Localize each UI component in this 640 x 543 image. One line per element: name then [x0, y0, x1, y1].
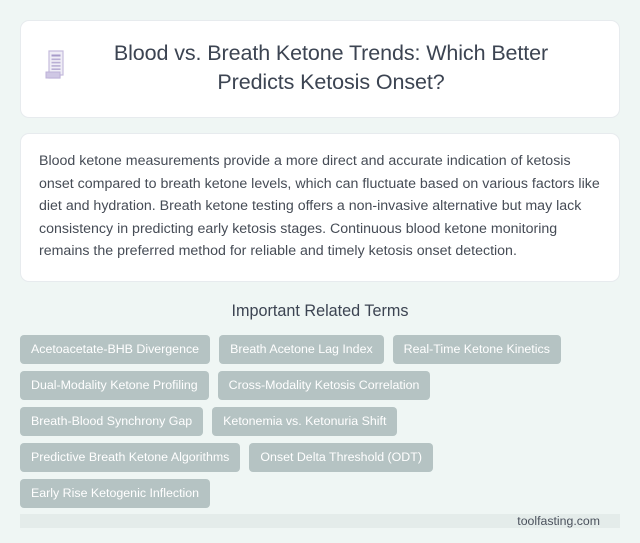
- footer-bar: toolfasting.com: [20, 514, 620, 528]
- page-title: Blood vs. Breath Ketone Trends: Which Be…: [81, 39, 595, 97]
- receipt-document-icon: [45, 50, 67, 80]
- related-terms-list: Acetoacetate-BHB Divergence Breath Aceto…: [20, 335, 620, 508]
- tag-item[interactable]: Cross-Modality Ketosis Correlation: [218, 371, 431, 400]
- tag-item[interactable]: Breath-Blood Synchrony Gap: [20, 407, 203, 436]
- page-root: Blood vs. Breath Ketone Trends: Which Be…: [0, 0, 640, 543]
- title-card: Blood vs. Breath Ketone Trends: Which Be…: [20, 20, 620, 118]
- summary-paragraph: Blood ketone measurements provide a more…: [39, 150, 601, 263]
- tag-item[interactable]: Onset Delta Threshold (ODT): [249, 443, 433, 472]
- site-attribution: toolfasting.com: [517, 514, 600, 528]
- summary-card: Blood ketone measurements provide a more…: [20, 133, 620, 282]
- tag-item[interactable]: Breath Acetone Lag Index: [219, 335, 384, 364]
- tag-item[interactable]: Predictive Breath Ketone Algorithms: [20, 443, 240, 472]
- tag-item[interactable]: Early Rise Ketogenic Inflection: [20, 479, 210, 508]
- tag-item[interactable]: Acetoacetate-BHB Divergence: [20, 335, 210, 364]
- tag-item[interactable]: Real-Time Ketone Kinetics: [393, 335, 561, 364]
- tag-item[interactable]: Ketonemia vs. Ketonuria Shift: [212, 407, 397, 436]
- related-terms-heading: Important Related Terms: [20, 301, 620, 321]
- tag-item[interactable]: Dual-Modality Ketone Profiling: [20, 371, 209, 400]
